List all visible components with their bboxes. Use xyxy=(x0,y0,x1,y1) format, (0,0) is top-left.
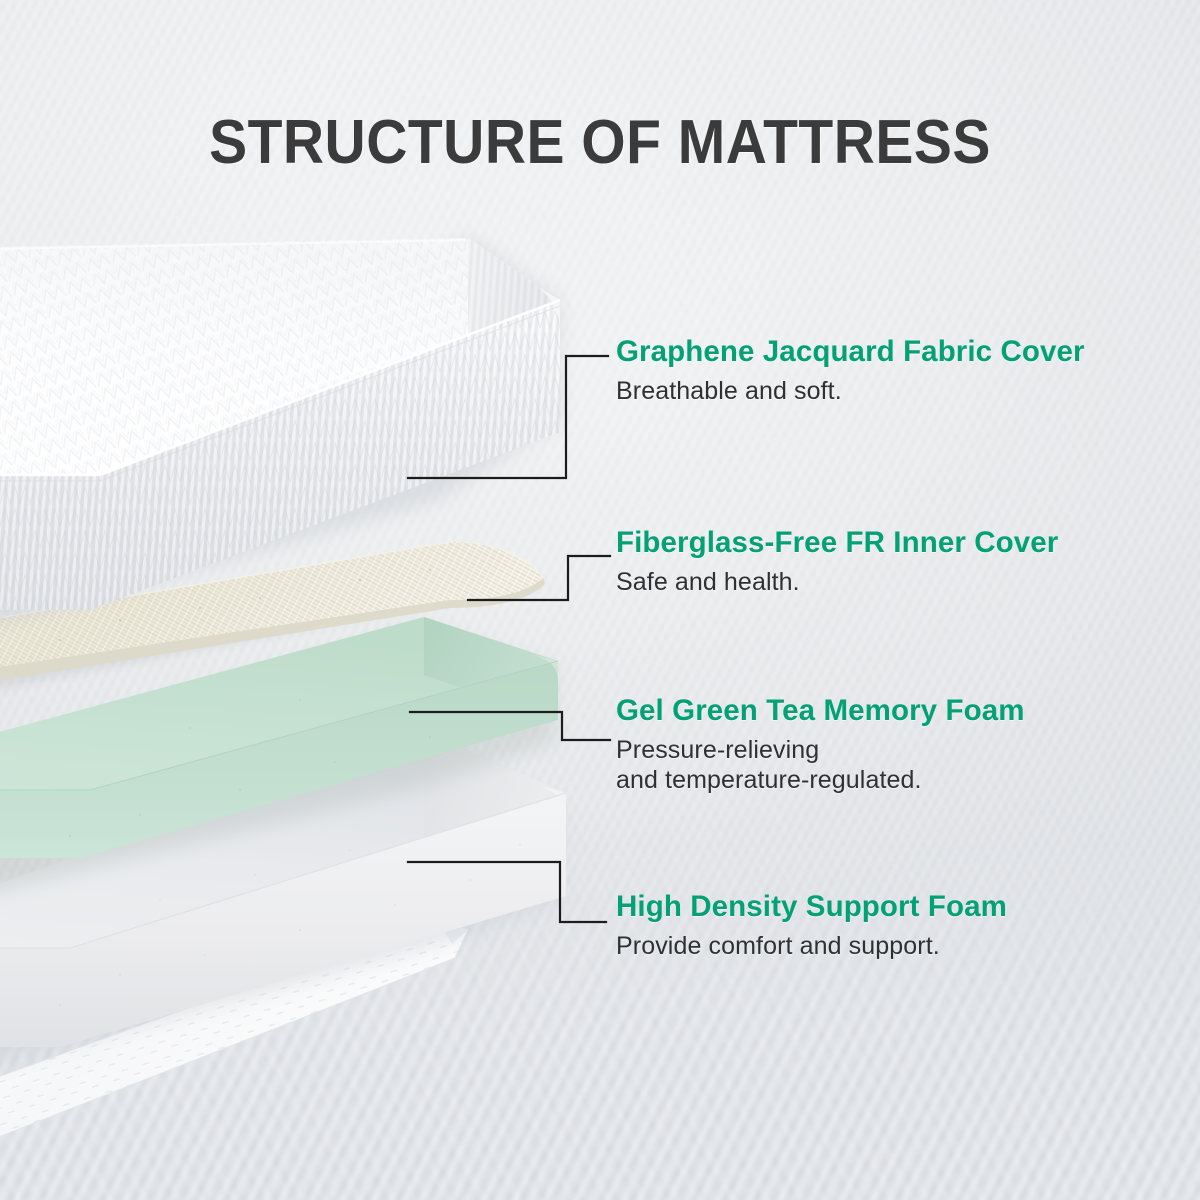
callout-title: High Density Support Foam xyxy=(616,891,1007,922)
callout-description: Provide comfort and support. xyxy=(616,931,1007,961)
callout-fiberglass-free-fr-inner-cover: Fiberglass-Free FR Inner Cover Safe and … xyxy=(616,527,1058,597)
callout-title: Gel Green Tea Memory Foam xyxy=(616,695,1025,726)
callout-title: Fiberglass-Free FR Inner Cover xyxy=(616,527,1058,558)
callout-description: Breathable and soft. xyxy=(616,376,1085,406)
callout-high-density-support-foam: High Density Support Foam Provide comfor… xyxy=(616,891,1007,961)
mattress-structure-infographic: STRUCTURE OF MATTRESS xyxy=(0,0,1200,1200)
callout-graphene-jacquard-fabric-cover: Graphene Jacquard Fabric Cover Breathabl… xyxy=(616,336,1085,406)
callout-title: Graphene Jacquard Fabric Cover xyxy=(616,336,1085,367)
callout-gel-green-tea-memory-foam: Gel Green Tea Memory Foam Pressure-relie… xyxy=(616,695,1025,795)
mattress-layers-illustration xyxy=(0,0,1200,1200)
callout-description: Safe and health. xyxy=(616,567,1058,597)
callout-description: Pressure-relieving and temperature-regul… xyxy=(616,735,1025,795)
